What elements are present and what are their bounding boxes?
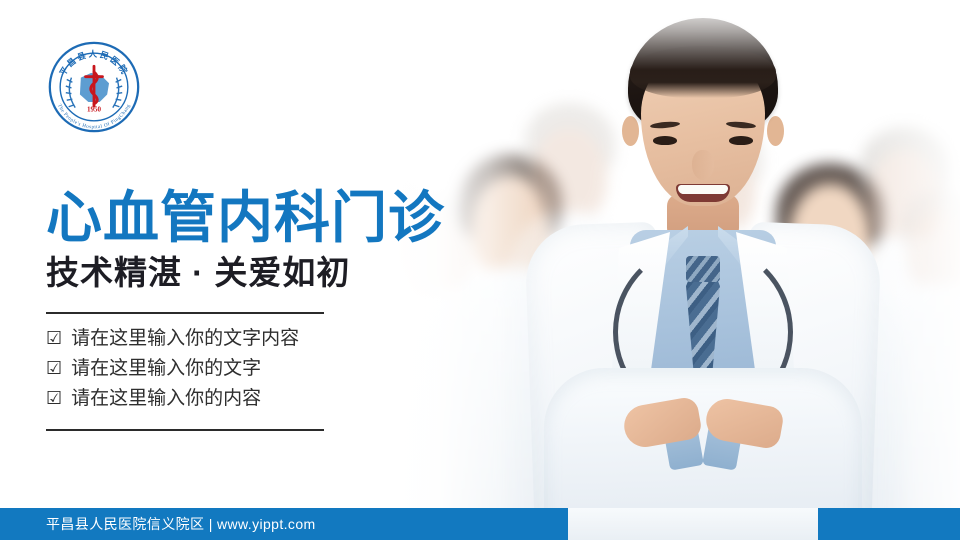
hair-fringe bbox=[630, 46, 776, 98]
footer-photo-overlay bbox=[568, 508, 818, 540]
eye-right bbox=[729, 136, 753, 145]
list-item: ☑ 请在这里输入你的内容 bbox=[46, 384, 376, 414]
divider-bottom bbox=[46, 429, 324, 431]
ear-left bbox=[622, 116, 639, 146]
ear-right bbox=[767, 116, 784, 146]
list-item: ☑ 请在这里输入你的文字内容 bbox=[46, 324, 376, 354]
checkbox-icon: ☑ bbox=[46, 359, 62, 377]
list-item-label: 请在这里输入你的内容 bbox=[71, 389, 261, 408]
teeth bbox=[678, 185, 728, 194]
lead-doctor bbox=[538, 18, 868, 540]
medical-team-photo bbox=[330, 0, 960, 540]
footer-text: 平昌县人民医院信义院区 | www.yippt.com bbox=[46, 508, 316, 540]
logo-year: 1950 bbox=[87, 105, 102, 113]
photo-stage bbox=[330, 0, 960, 540]
checkbox-icon: ☑ bbox=[46, 389, 62, 407]
mouth bbox=[676, 184, 730, 202]
hospital-logo: 1950 平昌县人民医院 The People's Hospital Of Pi… bbox=[47, 40, 141, 134]
bullet-list: ☑ 请在这里输入你的文字内容 ☑ 请在这里输入你的文字 ☑ 请在这里输入你的内容 bbox=[46, 324, 376, 414]
nose bbox=[692, 150, 714, 180]
list-item-label: 请在这里输入你的文字 bbox=[71, 359, 261, 378]
checkbox-icon: ☑ bbox=[46, 329, 62, 347]
background-person bbox=[886, 210, 960, 540]
eye-left bbox=[653, 136, 677, 145]
list-item: ☑ 请在这里输入你的文字 bbox=[46, 354, 376, 384]
presentation-slide: 1950 平昌县人民医院 The People's Hospital Of Pi… bbox=[0, 0, 960, 540]
divider-top bbox=[46, 312, 324, 314]
list-item-label: 请在这里输入你的文字内容 bbox=[71, 329, 299, 348]
page-title: 心血管内科门诊 bbox=[46, 189, 445, 248]
page-subtitle: 技术精湛 · 关爱如初 bbox=[46, 254, 350, 292]
